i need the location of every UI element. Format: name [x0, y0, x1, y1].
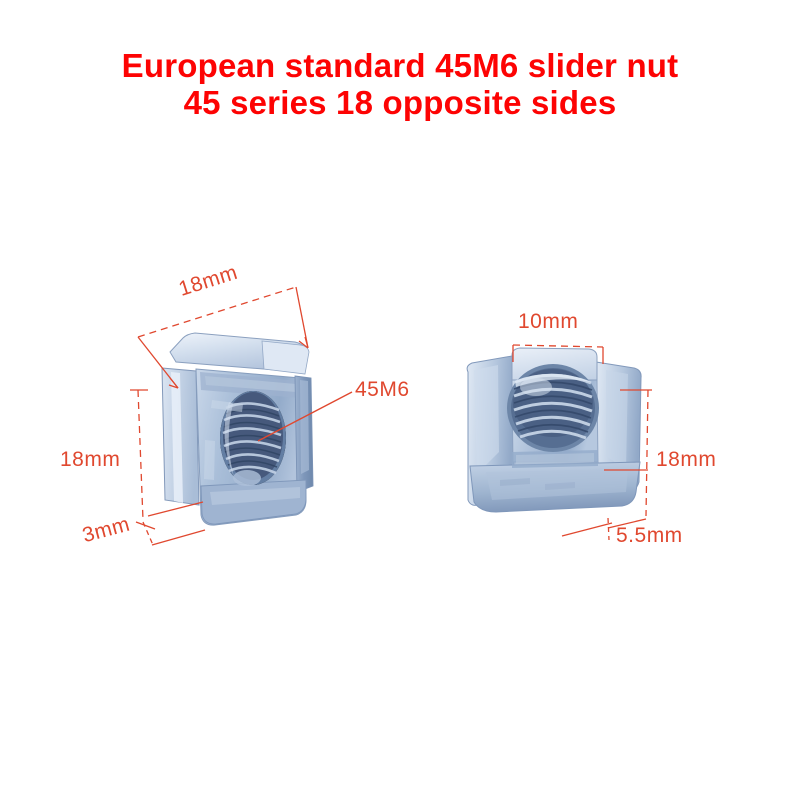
right-nut-thread-bore: [507, 364, 599, 452]
left-nut-thread-callout-label: 45M6: [355, 378, 410, 402]
right-nut-body: [467, 348, 641, 512]
left-nut-height-label: 18mm: [60, 448, 120, 472]
left-nut-body: [162, 333, 313, 525]
product-image-canvas: European standard 45M6 slider nut 45 ser…: [0, 0, 800, 800]
right-nut-base-thickness-label: 5.5mm: [616, 524, 683, 548]
right-nut-height-label: 18mm: [656, 448, 716, 472]
right-nut-top-width-label: 10mm: [518, 310, 578, 334]
